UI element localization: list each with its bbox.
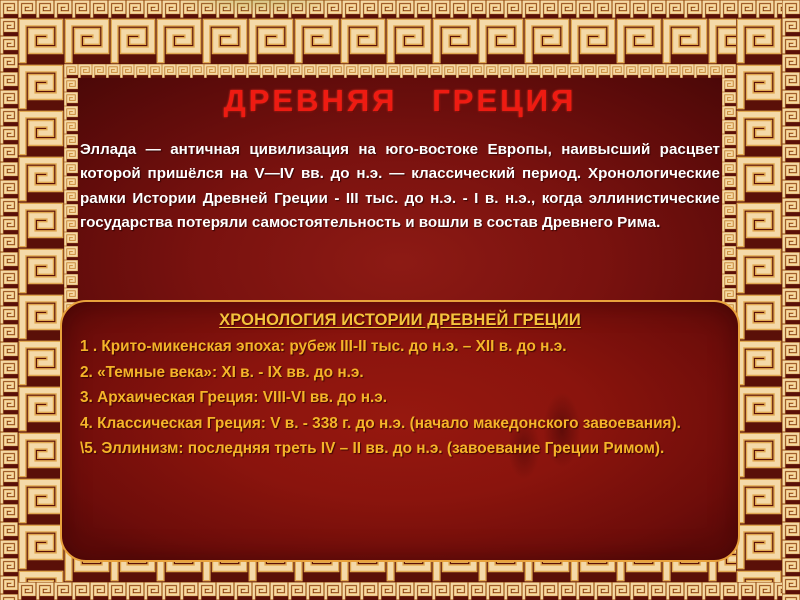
greek-key-border-outer-left xyxy=(0,0,18,600)
greek-key-border-main-right xyxy=(736,18,782,582)
list-item: 1 . Крито-микенская эпоха: рубеж III-II … xyxy=(80,334,720,360)
chronology-panel: ХРОНОЛОГИЯ ИСТОРИИ ДРЕВНЕЙ ГРЕЦИИ 1 . Кр… xyxy=(60,300,740,562)
chronology-list: 1 . Крито-микенская эпоха: рубеж III-II … xyxy=(72,334,728,462)
content-area: ДРЕВНЯЯ ГРЕЦИЯ Эллада — античная цивилиз… xyxy=(78,78,722,522)
intro-paragraph: Эллада — античная цивилизация на юго-вос… xyxy=(80,138,720,236)
greek-key-border-outer-bottom xyxy=(0,582,800,600)
chronology-heading: ХРОНОЛОГИЯ ИСТОРИИ ДРЕВНЕЙ ГРЕЦИИ xyxy=(72,311,728,330)
list-item: \5. Эллинизм: последняя треть IV – II вв… xyxy=(80,436,720,462)
list-item: 3. Архаическая Греция: VIII-VI вв. до н.… xyxy=(80,385,720,411)
page-title: ДРЕВНЯЯ ГРЕЦИЯ xyxy=(78,83,722,119)
list-item: 2. «Темные века»: XI в. - IX вв. до н.э. xyxy=(80,360,720,386)
top-green-tint xyxy=(150,0,370,26)
greek-key-border-main-left xyxy=(18,18,64,582)
greek-key-border-outer-top xyxy=(0,0,800,18)
greek-key-border-outer-right xyxy=(782,0,800,600)
list-item: 4. Классическая Греция: V в. - 338 г. до… xyxy=(80,411,720,437)
slide-root: ДРЕВНЯЯ ГРЕЦИЯ Эллада — античная цивилиз… xyxy=(0,0,800,600)
greek-key-border-inner-top xyxy=(64,64,736,78)
greek-key-border-main-top xyxy=(18,18,782,64)
